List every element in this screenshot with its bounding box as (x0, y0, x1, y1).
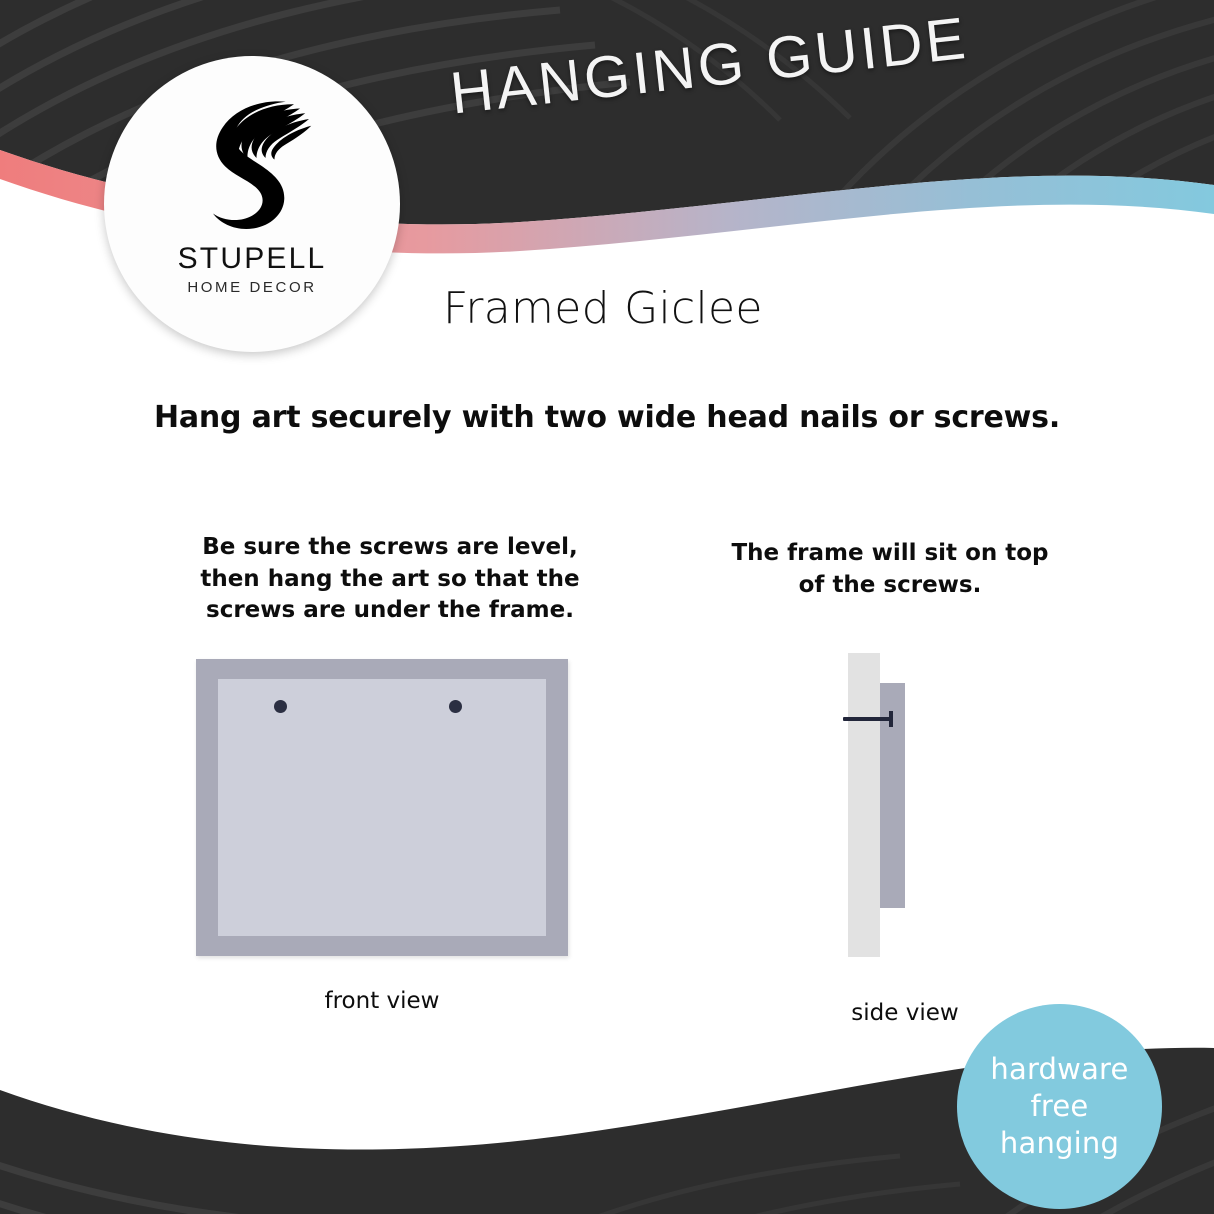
stupell-swoosh-icon (177, 86, 327, 236)
brand-logo-badge: STUPELL HOME DECOR (104, 56, 400, 352)
badge-line-1: hardware (990, 1051, 1128, 1088)
logo-tagline: HOME DECOR (187, 279, 316, 296)
logo-brand-name: STUPELL (178, 242, 327, 276)
product-type-label: Framed Giclee (443, 283, 763, 334)
screw-dot-left-icon (274, 700, 287, 713)
front-view-caption-line-2: then hang the art so that the (190, 564, 590, 596)
side-view-caption-line-2: of the screws. (700, 570, 1080, 602)
side-view-diagram (840, 653, 970, 963)
hanging-guide-page: STUPELL HOME DECOR HANGING GUIDE Framed … (0, 0, 1214, 1214)
badge-line-2: free (1031, 1088, 1089, 1125)
front-view-mat (218, 679, 546, 936)
main-instruction: Hang art securely with two wide head nai… (0, 400, 1214, 435)
side-view-caption-line-1: The frame will sit on top (700, 538, 1080, 570)
front-view-caption-line-1: Be sure the screws are level, (190, 532, 590, 564)
nail-head-icon (889, 711, 893, 727)
hardware-free-hanging-badge: hardware free hanging (957, 1004, 1162, 1209)
front-view-diagram (196, 659, 568, 956)
front-view-caption-line-3: screws are under the frame. (190, 595, 590, 627)
nail-shaft-icon (843, 717, 892, 721)
screw-dot-right-icon (449, 700, 462, 713)
front-view-caption: Be sure the screws are level, then hang … (190, 532, 590, 627)
front-view-label: front view (196, 988, 568, 1014)
side-view-caption: The frame will sit on top of the screws. (700, 538, 1080, 601)
side-view-wall (848, 653, 880, 957)
badge-line-3: hanging (1000, 1125, 1119, 1162)
